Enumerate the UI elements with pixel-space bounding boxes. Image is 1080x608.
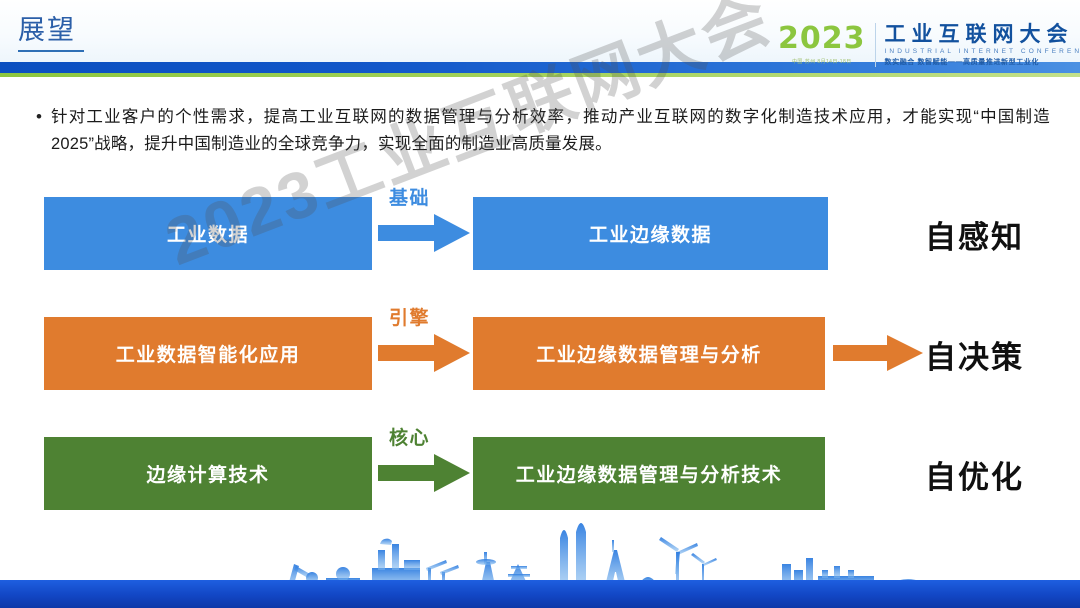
diagram-box-label: 工业边缘数据管理与分析技术: [516, 460, 783, 487]
connector-label-row-foundation: 基础: [389, 183, 430, 210]
diagram-box-right-row-foundation: 工业边缘数据: [473, 197, 828, 270]
diagram-box-label: 工业数据: [167, 220, 249, 247]
diagram-box-left-row-engine: 工业数据智能化应用: [44, 317, 372, 390]
footer-skyline: [0, 508, 1080, 608]
diagram-box-label: 工业边缘数据: [589, 220, 712, 247]
connector-arrow-row-foundation: [378, 214, 470, 252]
outcome-label-row-engine: 自决策: [925, 332, 1024, 377]
diagram-box-right-row-core: 工业边缘数据管理与分析技术: [473, 437, 825, 510]
connector-label-row-engine: 引擎: [389, 303, 430, 330]
diagram-box-label: 工业数据智能化应用: [116, 340, 301, 367]
slide-canvas: 展望 2023 中国·苏州 8月14日-18日 工业互联网大会 INDUSTRI…: [0, 0, 1080, 608]
diagram-box-label: 边缘计算技术: [146, 460, 269, 487]
connector-label-row-core: 核心: [389, 423, 430, 450]
footer-sea-band: [0, 580, 1080, 608]
outcome-arrow-row-engine: [833, 335, 923, 371]
outcome-label-row-foundation: 自感知: [925, 212, 1024, 257]
diagram-box-left-row-core: 边缘计算技术: [44, 437, 372, 510]
diagram-box-left-row-foundation: 工业数据: [44, 197, 372, 270]
outcome-label-row-core: 自优化: [925, 452, 1024, 497]
connector-arrow-row-core: [378, 454, 470, 492]
diagram-box-right-row-engine: 工业边缘数据管理与分析: [473, 317, 825, 390]
connector-arrow-row-engine: [378, 334, 470, 372]
diagram-box-label: 工业边缘数据管理与分析: [536, 340, 762, 367]
